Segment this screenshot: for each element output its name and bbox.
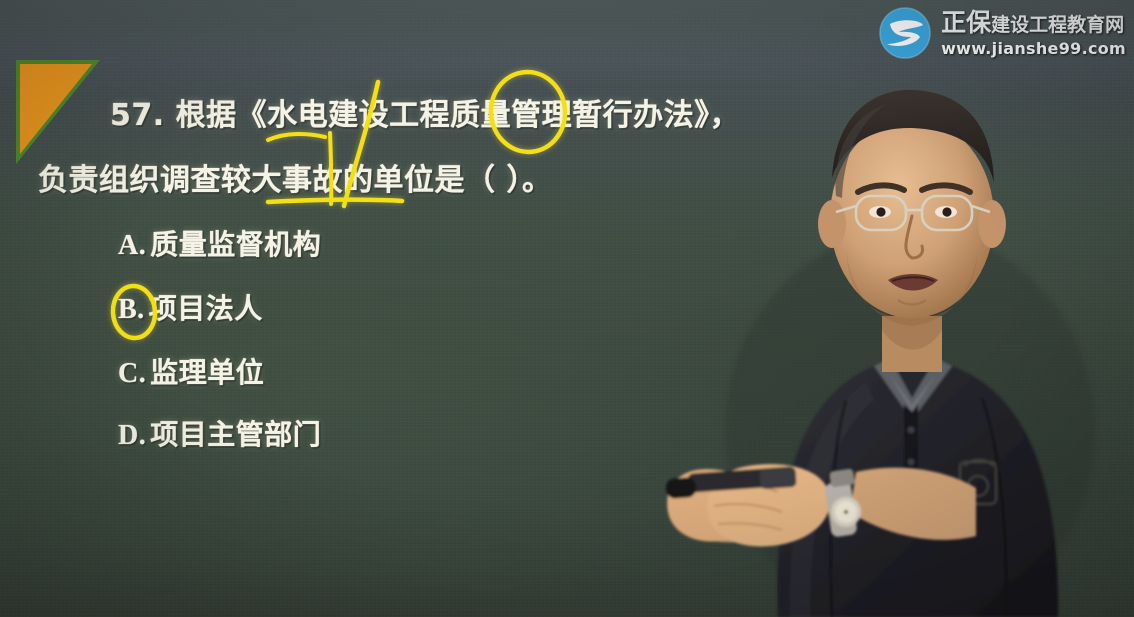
option-d-text: 项目主管部门 [150,418,321,451]
watermark: 正保建设工程教育网 www.jianshe99.com [878,6,1126,60]
brand-name: 正保建设工程教育网 [941,10,1126,36]
option-c-label: C. [118,358,146,389]
question-line-2: 负责组织调查较大事故的单位是（ ）。 [38,155,552,199]
option-c-text: 监理单位 [150,356,264,389]
option-a-text: 质量监督机构 [150,228,321,261]
slide-text-block: 57. 根据《水电建设工程质量管理暂行办法》， 负责组织调查较大事故的单位是（ … [0,0,720,617]
option-b-label: B. [118,294,145,325]
option-c: C.监理单位 [118,351,264,391]
option-a: A.质量监督机构 [118,223,321,263]
question-line-1: 57. 根据《水电建设工程质量管理暂行办法》， [110,90,740,134]
option-b: B.项目法人 [118,287,263,327]
option-b-text: 项目法人 [149,292,263,325]
video-frame: 57. 根据《水电建设工程质量管理暂行办法》， 负责组织调查较大事故的单位是（ … [0,0,1134,617]
brand-name-sub: 建设工程教育网 [991,14,1124,36]
brand-name-main: 正保 [941,8,991,37]
watermark-text: 正保建设工程教育网 www.jianshe99.com [941,10,1126,57]
brand-url: www.jianshe99.com [941,41,1126,57]
option-d-label: D. [118,420,146,451]
option-a-label: A. [118,230,146,261]
option-d: D.项目主管部门 [118,413,321,453]
brand-logo-icon [878,6,932,60]
instructor-figure [660,0,1134,617]
